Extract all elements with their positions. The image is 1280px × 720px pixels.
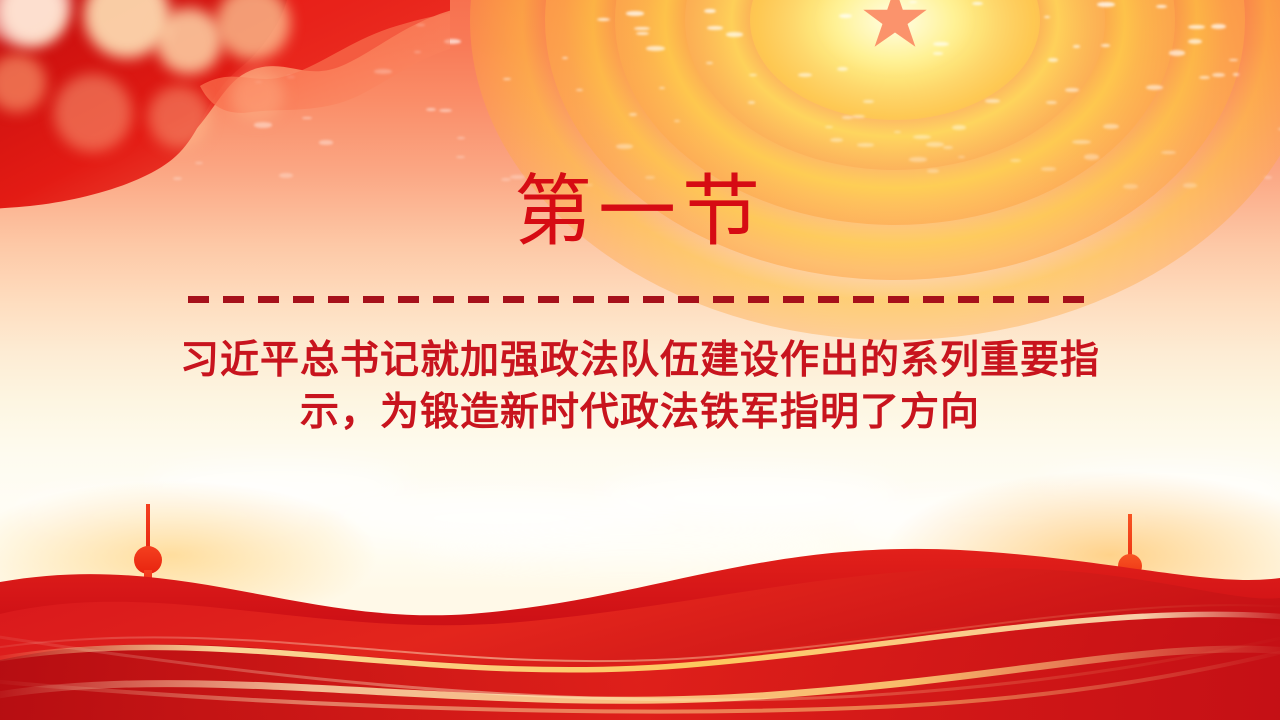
slide-subtitle: 习近平总书记就加强政法队伍建设作出的系列重要指 示，为锻造新时代政法铁军指明了方… <box>135 335 1145 439</box>
presentation-slide: 第一节 习近平总书记就加强政法队伍建设作出的系列重要指 示，为锻造新时代政法铁军… <box>0 0 1280 720</box>
subtitle-line-1: 习近平总书记就加强政法队伍建设作出的系列重要指 <box>135 335 1145 387</box>
dashed-divider <box>188 296 1094 303</box>
page-title: 第一节 <box>0 172 1280 250</box>
subtitle-line-2: 示，为锻造新时代政法铁军指明了方向 <box>135 387 1145 439</box>
